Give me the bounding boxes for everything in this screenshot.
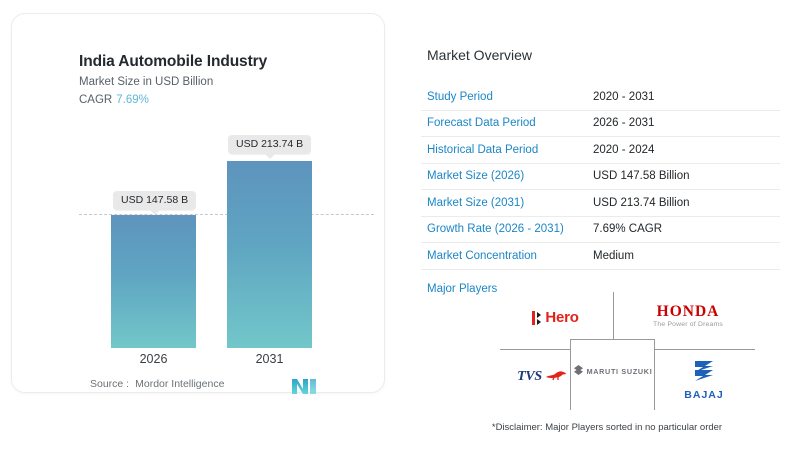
row-key: Market Concentration	[421, 250, 593, 262]
row-key: Study Period	[421, 91, 593, 103]
tvs-horse-icon	[545, 368, 567, 386]
source-value: Mordor Intelligence	[135, 378, 224, 390]
player-logo-honda: HONDA The Power of Dreams	[628, 296, 748, 336]
row-key: Market Size (2026)	[421, 170, 593, 182]
chart-title: India Automobile Industry	[79, 53, 267, 71]
row-value: 2026 - 2031	[593, 117, 654, 129]
table-row: Study Period 2020 - 2031	[421, 84, 780, 111]
table-row: Forecast Data Period 2026 - 2031	[421, 111, 780, 138]
row-value: 2020 - 2024	[593, 144, 654, 156]
row-value: USD 213.74 Billion	[593, 197, 690, 209]
cagr-label: CAGR	[79, 94, 112, 106]
honda-tagline: The Power of Dreams	[653, 321, 723, 328]
player-logo-tvs: TVS	[502, 360, 582, 394]
x-axis-label-2031: 2031	[227, 352, 312, 366]
table-row: Market Concentration Medium	[421, 243, 780, 270]
hero-mark-icon	[532, 311, 541, 325]
table-row: Growth Rate (2026 - 2031) 7.69% CAGR	[421, 217, 780, 244]
row-key: Growth Rate (2026 - 2031)	[421, 223, 593, 235]
bar-value-tooltip-2026: USD 147.58 B	[113, 191, 196, 210]
table-row: Market Size (2031) USD 213.74 Billion	[421, 190, 780, 217]
chart-subtitle: Market Size in USD Billion	[79, 76, 213, 88]
connector-line-left	[500, 349, 570, 350]
connector-line-top	[613, 292, 614, 340]
row-key: Market Size (2031)	[421, 197, 593, 209]
row-key: Forecast Data Period	[421, 117, 593, 129]
row-key: Historical Data Period	[421, 144, 593, 156]
player-logo-bajaj: BAJAJ	[665, 354, 743, 406]
major-players-label: Major Players	[427, 283, 497, 295]
table-row: Market Size (2026) USD 147.58 Billion	[421, 164, 780, 191]
maruti-suzuki-wordmark: MARUTI SUZUKI	[587, 367, 653, 376]
bar-value-tooltip-2031: USD 213.74 B	[228, 135, 311, 154]
row-value: Medium	[593, 250, 634, 262]
table-row: Historical Data Period 2020 - 2024	[421, 137, 780, 164]
row-value: 2020 - 2031	[593, 91, 654, 103]
mordor-intelligence-logo	[291, 376, 317, 401]
market-snapshot-page: India Automobile Industry Market Size in…	[0, 0, 800, 459]
row-value: USD 147.58 Billion	[593, 170, 690, 182]
source-label: Source :	[90, 378, 129, 390]
player-logo-maruti-suzuki: MARUTI SUZUKI	[572, 354, 654, 388]
market-overview-heading: Market Overview	[427, 47, 532, 63]
players-disclaimer: *Disclaimer: Major Players sorted in no …	[427, 422, 787, 433]
cagr-row: CAGR7.69%	[79, 94, 149, 106]
player-logo-hero: Hero	[508, 300, 603, 334]
market-overview-table: Study Period 2020 - 2031 Forecast Data P…	[421, 84, 780, 270]
connector-line-right	[655, 349, 755, 350]
tvs-wordmark: TVS	[517, 369, 542, 385]
x-axis-label-2026: 2026	[111, 352, 196, 366]
bajaj-wordmark: BAJAJ	[684, 389, 723, 401]
bar-2026[interactable]	[111, 215, 196, 348]
honda-wordmark: HONDA	[657, 304, 720, 320]
suzuki-s-icon	[574, 362, 583, 380]
bajaj-mark-icon	[691, 359, 717, 388]
row-value: 7.69% CAGR	[593, 223, 662, 235]
major-players-diagram: Hero HONDA The Power of Dreams TVS	[500, 292, 755, 410]
chart-card: India Automobile Industry Market Size in…	[11, 13, 385, 393]
bar-2031[interactable]	[227, 161, 312, 348]
cagr-value: 7.69%	[116, 94, 149, 106]
chart-source: Source :Mordor Intelligence	[90, 378, 224, 390]
hero-wordmark: Hero	[545, 309, 578, 326]
